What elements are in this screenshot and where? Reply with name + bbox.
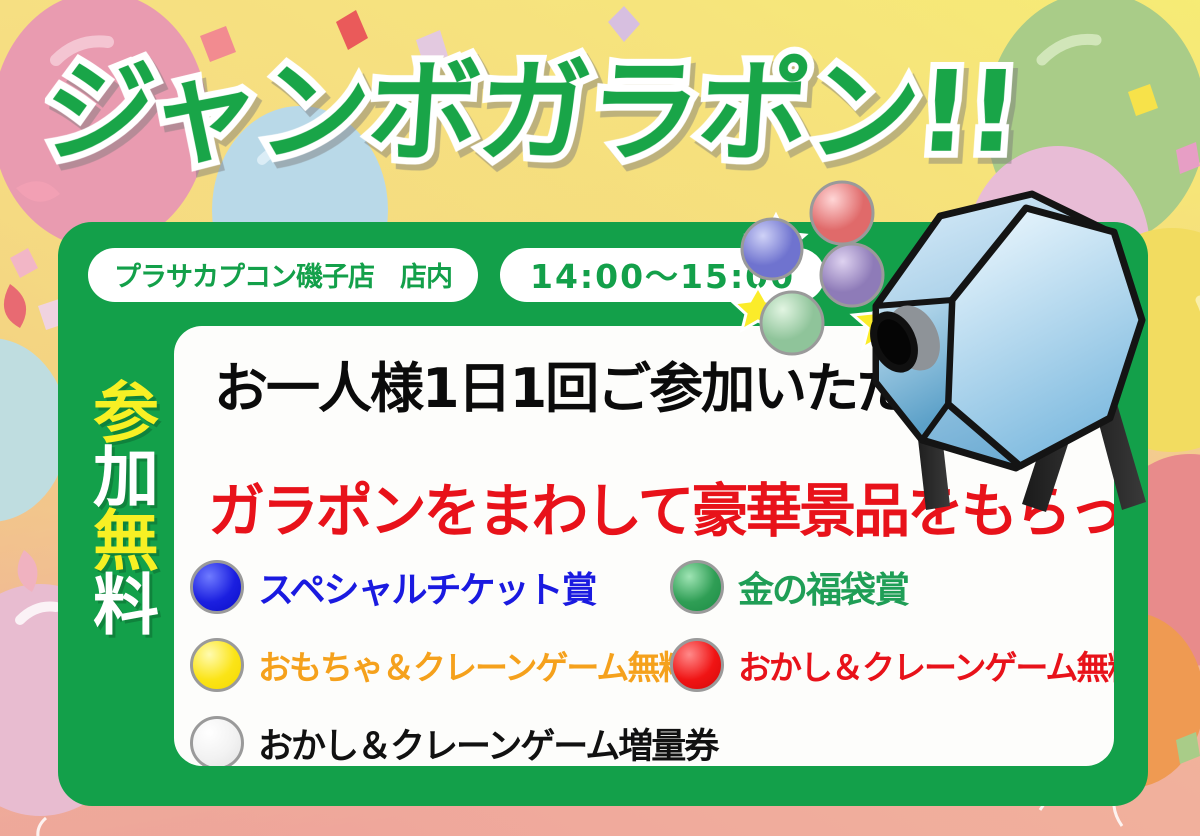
deco-ball-green <box>761 292 823 354</box>
lottery-ball-white-icon <box>190 716 244 766</box>
vertical-char-1: 参 <box>93 382 159 446</box>
prize-item-gold-lucky-bag: 金の福袋賞 <box>670 560 908 614</box>
lottery-ball-red-icon <box>670 638 724 692</box>
lottery-ball-yellow-icon <box>190 638 244 692</box>
prize-label: おかし＆クレーンゲーム増量券 <box>258 718 717 767</box>
prize-label: 金の福袋賞 <box>738 561 908 613</box>
lottery-ball-green-icon <box>670 560 724 614</box>
prize-row: おかし＆クレーンゲーム増量券 <box>190 704 1100 766</box>
vertical-char-4: 料 <box>93 574 159 638</box>
prize-item-snack-crane-free: おかし＆クレーンゲーム無料券 <box>670 638 1114 692</box>
deco-ball-periwinkle <box>742 219 802 279</box>
prize-list: スペシャルチケット賞 金の福袋賞 おもちゃ＆クレーンゲーム無料券 おかし＆クレー… <box>190 548 1100 766</box>
vertical-char-3: 無 <box>93 510 159 574</box>
lottery-ball-blue-icon <box>190 560 244 614</box>
prize-label: おもちゃ＆クレーンゲーム無料券 <box>258 641 720 689</box>
prize-label: スペシャルチケット賞 <box>258 561 595 613</box>
info-badge-row: プラサカプコン磯子店 店内 14:00〜15:00 <box>88 248 825 302</box>
gallapon-drum-illustration <box>830 150 1200 540</box>
prize-item-snack-crane-bonus: おかし＆クレーンゲーム増量券 <box>190 716 717 766</box>
prize-row: おもちゃ＆クレーンゲーム無料券 おかし＆クレーンゲーム無料券 <box>190 626 1100 704</box>
free-entry-vertical-text: 参 加 無 料 <box>80 382 172 638</box>
prize-row: スペシャルチケット賞 金の福袋賞 <box>190 548 1100 626</box>
prize-item-special-ticket: スペシャルチケット賞 <box>190 560 670 614</box>
prize-item-toy-crane-free: おもちゃ＆クレーンゲーム無料券 <box>190 638 670 692</box>
prize-label: おかし＆クレーンゲーム無料券 <box>738 641 1114 689</box>
store-badge: プラサカプコン磯子店 店内 <box>88 248 478 302</box>
vertical-char-2: 加 <box>93 446 159 510</box>
